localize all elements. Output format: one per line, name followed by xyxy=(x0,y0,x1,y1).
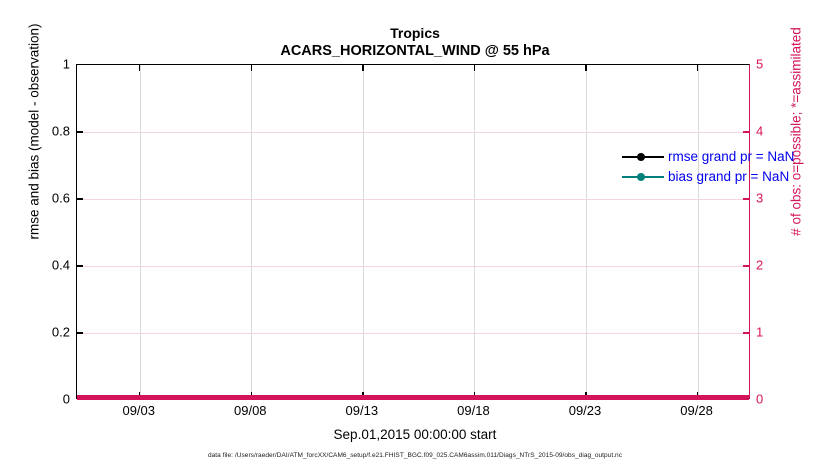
y-tick-label-right: 2 xyxy=(756,258,763,273)
y-tick-label-right: 5 xyxy=(756,57,763,72)
plot-area: rmse grand pr = NaN bias grand pr = NaN xyxy=(76,64,750,399)
x-tick-top xyxy=(139,65,140,71)
chart-legend: rmse grand pr = NaN bias grand pr = NaN xyxy=(622,148,794,185)
legend-label-rmse: rmse grand pr = NaN xyxy=(668,149,794,164)
y-tick-label-right: 1 xyxy=(756,325,763,340)
y-tick-right xyxy=(743,198,749,199)
rmse-line-marker-icon xyxy=(622,151,664,163)
y-tick-left xyxy=(77,198,83,199)
gridline-vertical xyxy=(698,65,699,398)
legend-label-bias: bias grand pr = NaN xyxy=(668,169,789,184)
y-tick-label-left: 0.2 xyxy=(52,325,70,340)
y-tick-right xyxy=(743,131,749,132)
x-tick-top xyxy=(474,65,475,71)
gridline-vertical xyxy=(586,65,587,398)
y-tick-label-left: 0.4 xyxy=(52,258,70,273)
y-tick-label-left: 1 xyxy=(63,57,70,72)
x-tick-label: 09/08 xyxy=(234,403,267,418)
gridline-horizontal xyxy=(77,132,749,133)
legend-item-rmse: rmse grand pr = NaN xyxy=(622,148,794,165)
x-tick-top xyxy=(362,65,363,71)
x-tick-top xyxy=(585,65,586,71)
gridline-horizontal xyxy=(77,333,749,334)
obs-count-markers xyxy=(77,392,749,402)
chart-subtitle: ACARS_HORIZONTAL_WIND @ 55 hPa xyxy=(0,42,830,61)
x-tick-label: 09/13 xyxy=(346,403,379,418)
y-axis-title-left: rmse and bias (model - observation) xyxy=(27,0,42,342)
y-tick-label-left: 0.8 xyxy=(52,124,70,139)
y-tick-left xyxy=(77,332,83,333)
y-tick-label-left: 0 xyxy=(63,392,70,407)
x-axis-title: Sep.01,2015 00:00:00 start xyxy=(0,427,830,442)
legend-item-bias: bias grand pr = NaN xyxy=(622,168,794,185)
bias-line-marker-icon xyxy=(622,171,664,183)
y-tick-left xyxy=(77,265,83,266)
y-tick-right xyxy=(743,265,749,266)
chart-title-block: Tropics ACARS_HORIZONTAL_WIND @ 55 hPa xyxy=(0,24,830,61)
x-tick-top xyxy=(251,65,252,71)
y-tick-label-left: 0.6 xyxy=(52,191,70,206)
gridline-horizontal xyxy=(77,266,749,267)
y-tick-label-right: 3 xyxy=(756,191,763,206)
gridline-vertical xyxy=(140,65,141,398)
y-tick-left xyxy=(77,131,83,132)
x-tick-label: 09/18 xyxy=(457,403,490,418)
y-tick-label-right: 0 xyxy=(756,392,763,407)
x-tick-label: 09/03 xyxy=(122,403,155,418)
x-tick-label: 09/28 xyxy=(680,403,713,418)
y-axis-title-right: # of obs: o=possible; *=assimilated xyxy=(789,0,804,342)
chart-title: Tropics xyxy=(0,24,830,42)
gridline-horizontal xyxy=(77,199,749,200)
gridline-vertical xyxy=(474,65,475,398)
x-tick-label: 09/23 xyxy=(569,403,602,418)
gridline-vertical xyxy=(251,65,252,398)
gridline-vertical xyxy=(363,65,364,398)
x-tick-top xyxy=(697,65,698,71)
y-tick-label-right: 4 xyxy=(756,124,763,139)
data-file-caption: data file: /Users/raeder/DAI/ATM_forcXX/… xyxy=(0,452,830,459)
obs-marker xyxy=(745,395,749,400)
y-tick-right xyxy=(743,332,749,333)
